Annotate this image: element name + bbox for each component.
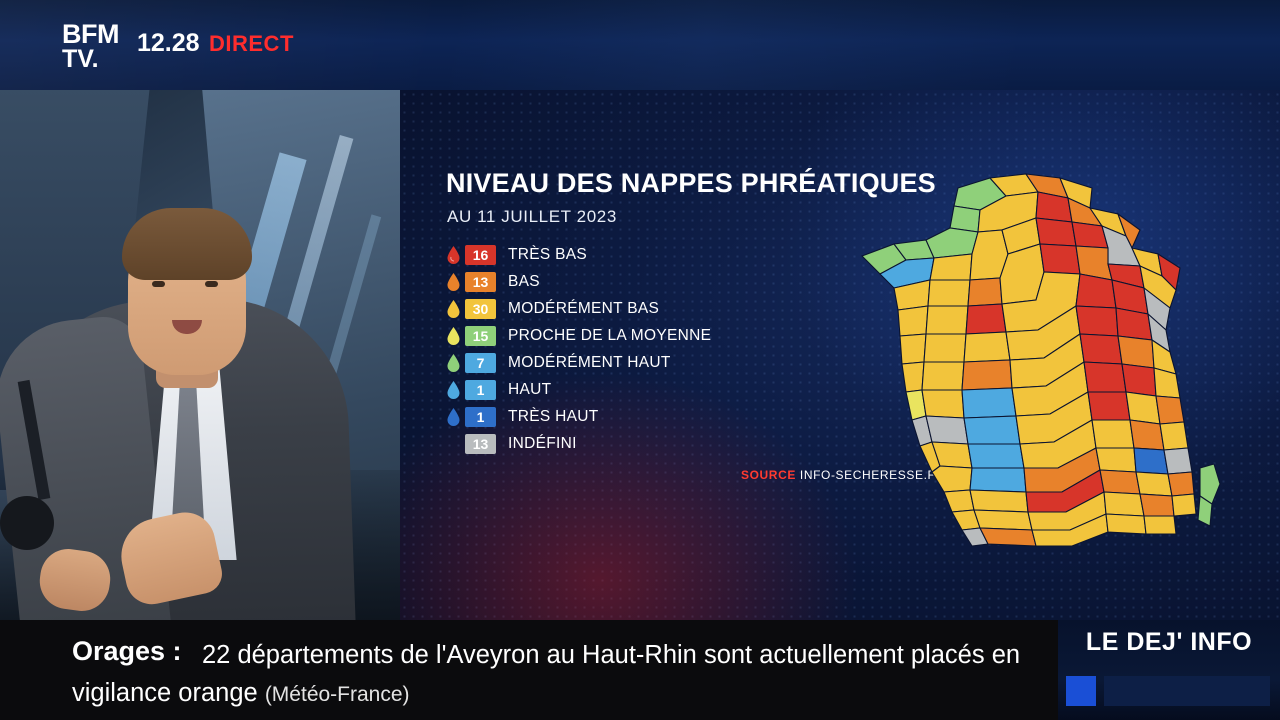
legend-label: HAUT (508, 381, 551, 399)
ticker-body: 22 départements de l'Aveyron au Haut-Rhi… (72, 636, 1032, 714)
drop-icon (445, 381, 462, 399)
presenter-eye-left (152, 281, 165, 287)
presenter-eye-right (205, 281, 218, 287)
ticker-topic: Orages : (72, 636, 182, 667)
legend-count-badge: 1 (465, 380, 496, 400)
channel-logo-line1: BFM (62, 22, 119, 47)
top-bar: BFM TV. 12.28 DIRECT (0, 0, 1280, 90)
channel-logo-line2: TV. (62, 47, 119, 72)
legend-count-badge: 15 (465, 326, 496, 346)
broadcast-screen: BFM TV. 12.28 DIRECT (0, 0, 1280, 720)
legend-item-tres-bas: 16 TRÈS BAS (445, 241, 711, 268)
news-ticker-content: 22 départements de l'Aveyron au Haut-Rhi… (0, 620, 1050, 720)
microphone-icon (0, 496, 54, 550)
drop-icon (445, 246, 462, 264)
source-prefix: SOURCE (741, 468, 796, 482)
legend-item-proche-de-la-moyenne: 15 PROCHE DE LA MOYENNE (445, 322, 711, 349)
infographic-panel: NIVEAU DES NAPPES PHRÉATIQUES AU 11 JUIL… (400, 90, 1280, 620)
graphic-subtitle: AU 11 JUILLET 2023 (447, 207, 617, 227)
legend-label: TRÈS BAS (508, 246, 587, 264)
legend-label: BAS (508, 273, 540, 291)
france-departments-map (840, 148, 1240, 568)
drop-icon (445, 354, 462, 372)
legend-count-badge: 1 (465, 407, 496, 427)
legend-count-badge: 16 (465, 245, 496, 265)
program-accent-bar (1066, 676, 1096, 706)
legend-label: INDÉFINI (508, 435, 577, 453)
ticker-attribution: (Météo-France) (265, 683, 410, 706)
legend-item-indefini: 13 INDÉFINI (445, 430, 711, 457)
drop-icon (445, 408, 462, 426)
legend-item-moderement-bas: 30 MODÉRÉMENT BAS (445, 295, 711, 322)
legend-label: TRÈS HAUT (508, 408, 599, 426)
legend-count-badge: 7 (465, 353, 496, 373)
legend-label: MODÉRÉMENT BAS (508, 300, 659, 318)
legend-label: MODÉRÉMENT HAUT (508, 354, 671, 372)
legend-item-moderement-haut: 7 MODÉRÉMENT HAUT (445, 349, 711, 376)
program-accent-bar-secondary (1104, 676, 1270, 706)
drop-icon (445, 273, 462, 291)
program-name: LE DEJ' INFO (1062, 628, 1276, 657)
presenter (0, 90, 400, 620)
legend-item-haut: 1 HAUT (445, 376, 711, 403)
legend-label: PROCHE DE LA MOYENNE (508, 327, 711, 345)
channel-logo: BFM TV. (62, 22, 119, 72)
legend: 16 TRÈS BAS 13 BAS 30 MODÉRÉMENT BAS (445, 241, 711, 457)
drop-icon (445, 300, 462, 318)
studio-video-feed (0, 90, 400, 620)
presenter-hair (122, 208, 252, 280)
legend-count-badge: 30 (465, 299, 496, 319)
legend-count-badge: 13 (465, 434, 496, 454)
legend-item-tres-haut: 1 TRÈS HAUT (445, 403, 711, 430)
ticker-headline: 22 départements de l'Aveyron au Haut-Rhi… (72, 641, 1020, 707)
live-badge: DIRECT (209, 31, 294, 57)
clock-display: 12.28 (137, 29, 200, 58)
legend-count-badge: 13 (465, 272, 496, 292)
drop-icon (445, 327, 462, 345)
legend-item-bas: 13 BAS (445, 268, 711, 295)
